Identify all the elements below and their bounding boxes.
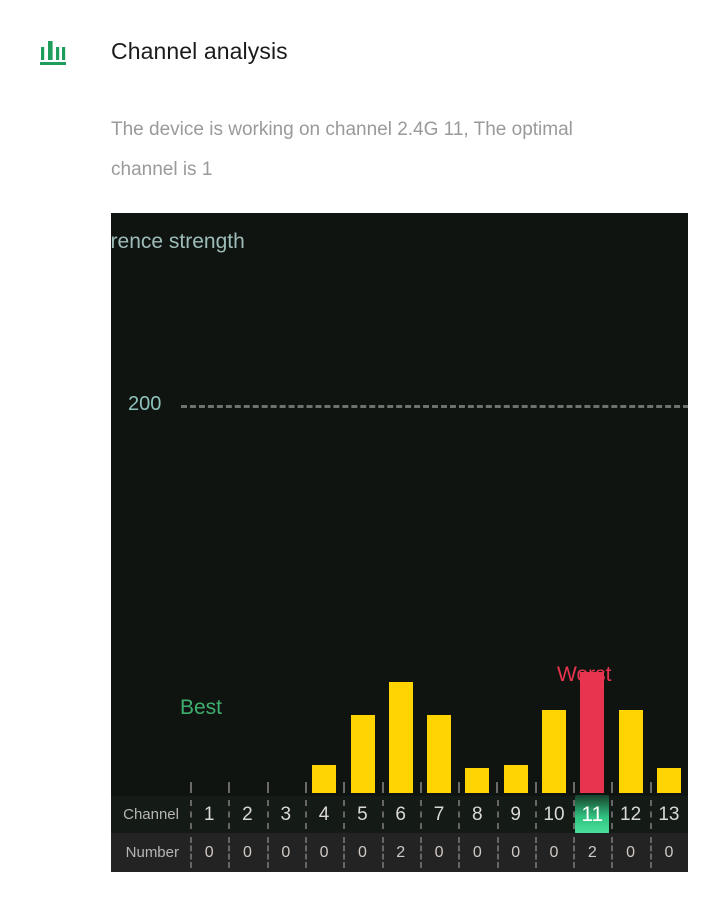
number-cell-value: 0: [664, 844, 673, 862]
cell-separator: [190, 800, 192, 829]
number-cell-13[interactable]: 0: [650, 833, 688, 872]
channel-cell-13[interactable]: 13: [650, 796, 688, 833]
number-cell-2[interactable]: 0: [228, 833, 266, 872]
channel-cell-value: 1: [204, 804, 215, 826]
channel-table: Channel 12345678910111213 Number 0000020…: [111, 796, 688, 872]
cell-separator: [267, 837, 269, 868]
channel-cell-value: 5: [357, 804, 368, 826]
channel-cell-value: 2: [242, 804, 253, 826]
channel-cell-11[interactable]: 11: [573, 796, 611, 833]
cell-separator: [497, 800, 499, 829]
cell-separator: [305, 800, 307, 829]
axis-tick: [228, 782, 230, 793]
channel-cell-value: 3: [280, 804, 291, 826]
axis-tick: [382, 782, 384, 793]
bar-channel-10: [542, 710, 566, 793]
number-cell-value: 2: [588, 844, 597, 862]
channel-analysis-page: Channel analysis The device is working o…: [0, 0, 720, 902]
interference-chart-panel: Interference strength 200 Best Worst Cha…: [111, 213, 688, 872]
channel-cell-value: 11: [581, 803, 603, 827]
number-cell-value: 0: [550, 844, 559, 862]
channel-cell-value: 12: [620, 804, 641, 826]
cell-separator: [420, 800, 422, 829]
cell-separator: [573, 837, 575, 868]
channel-cell-value: 8: [472, 804, 483, 826]
channel-cell-7[interactable]: 7: [420, 796, 458, 833]
channel-cell-value: 9: [510, 804, 521, 826]
axis-tick: [611, 782, 613, 793]
axis-tick: [535, 782, 537, 793]
number-cell-6[interactable]: 2: [382, 833, 420, 872]
number-cell-value: 0: [473, 844, 482, 862]
cell-separator: [267, 800, 269, 829]
cell-separator: [382, 837, 384, 868]
bar-chart-icon: [38, 38, 68, 66]
number-cell-value: 0: [511, 844, 520, 862]
cell-separator: [611, 837, 613, 868]
cell-separator: [458, 800, 460, 829]
number-cell-1[interactable]: 0: [190, 833, 228, 872]
page-header: Channel analysis The device is working o…: [0, 0, 720, 90]
channel-cell-value: 7: [434, 804, 445, 826]
cell-separator: [611, 800, 613, 829]
bar-channel-12: [619, 710, 643, 793]
axis-ticks: [111, 782, 688, 794]
row-label-channel: Channel: [111, 806, 190, 823]
channel-cell-value: 4: [319, 804, 330, 826]
axis-tick: [650, 782, 652, 793]
cell-separator: [343, 800, 345, 829]
cell-separator: [650, 800, 652, 829]
page-description: The device is working on channel 2.4G 11…: [111, 110, 631, 190]
cell-separator: [343, 837, 345, 868]
bar-channel-6: [389, 682, 413, 793]
cell-separator: [382, 800, 384, 829]
number-cell-10[interactable]: 0: [535, 833, 573, 872]
cell-separator: [650, 837, 652, 868]
channel-cell-9[interactable]: 9: [497, 796, 535, 833]
table-row-number: Number 0000020000200: [111, 833, 688, 872]
table-row-channel: Channel 12345678910111213: [111, 796, 688, 833]
number-cell-value: 0: [243, 844, 252, 862]
channel-cell-10[interactable]: 10: [535, 796, 573, 833]
cell-separator: [305, 837, 307, 868]
channel-cell-12[interactable]: 12: [611, 796, 649, 833]
axis-tick: [267, 782, 269, 793]
axis-tick: [190, 782, 192, 793]
axis-tick: [496, 782, 498, 793]
cell-separator: [420, 837, 422, 868]
bars-plot-area: [111, 213, 688, 793]
axis-tick: [343, 782, 345, 793]
number-cell-value: 0: [435, 844, 444, 862]
number-cell-value: 0: [626, 844, 635, 862]
page-title: Channel analysis: [111, 38, 288, 65]
channel-cell-4[interactable]: 4: [305, 796, 343, 833]
number-cell-value: 2: [396, 844, 405, 862]
number-cell-value: 0: [358, 844, 367, 862]
row-label-number: Number: [111, 844, 190, 861]
number-cell-4[interactable]: 0: [305, 833, 343, 872]
number-cell-12[interactable]: 0: [611, 833, 649, 872]
cell-separator: [228, 837, 230, 868]
cell-separator: [458, 837, 460, 868]
number-cell-value: 0: [320, 844, 329, 862]
cell-separator: [228, 800, 230, 829]
number-cell-8[interactable]: 0: [458, 833, 496, 872]
channel-cell-value: 6: [395, 804, 406, 826]
number-cell-9[interactable]: 0: [497, 833, 535, 872]
number-cell-value: 0: [281, 844, 290, 862]
number-cell-3[interactable]: 0: [267, 833, 305, 872]
channel-cell-3[interactable]: 3: [267, 796, 305, 833]
cell-separator: [190, 837, 192, 868]
number-cell-value: 0: [205, 844, 214, 862]
axis-tick: [458, 782, 460, 793]
cell-separator: [497, 837, 499, 868]
cell-separator: [535, 837, 537, 868]
cell-separator: [535, 800, 537, 829]
number-cell-11[interactable]: 2: [573, 833, 611, 872]
channel-cell-5[interactable]: 5: [343, 796, 381, 833]
axis-tick: [420, 782, 422, 793]
channel-cell-value: 13: [658, 804, 679, 826]
channel-cell-value: 10: [543, 804, 564, 826]
bar-channel-11: [580, 672, 604, 793]
channel-cell-1[interactable]: 1: [190, 796, 228, 833]
channel-cell-2[interactable]: 2: [228, 796, 266, 833]
number-cell-7[interactable]: 0: [420, 833, 458, 872]
axis-tick: [305, 782, 307, 793]
channel-cell-6[interactable]: 6: [382, 796, 420, 833]
number-cell-5[interactable]: 0: [343, 833, 381, 872]
channel-cell-8[interactable]: 8: [458, 796, 496, 833]
axis-tick: [573, 782, 575, 793]
